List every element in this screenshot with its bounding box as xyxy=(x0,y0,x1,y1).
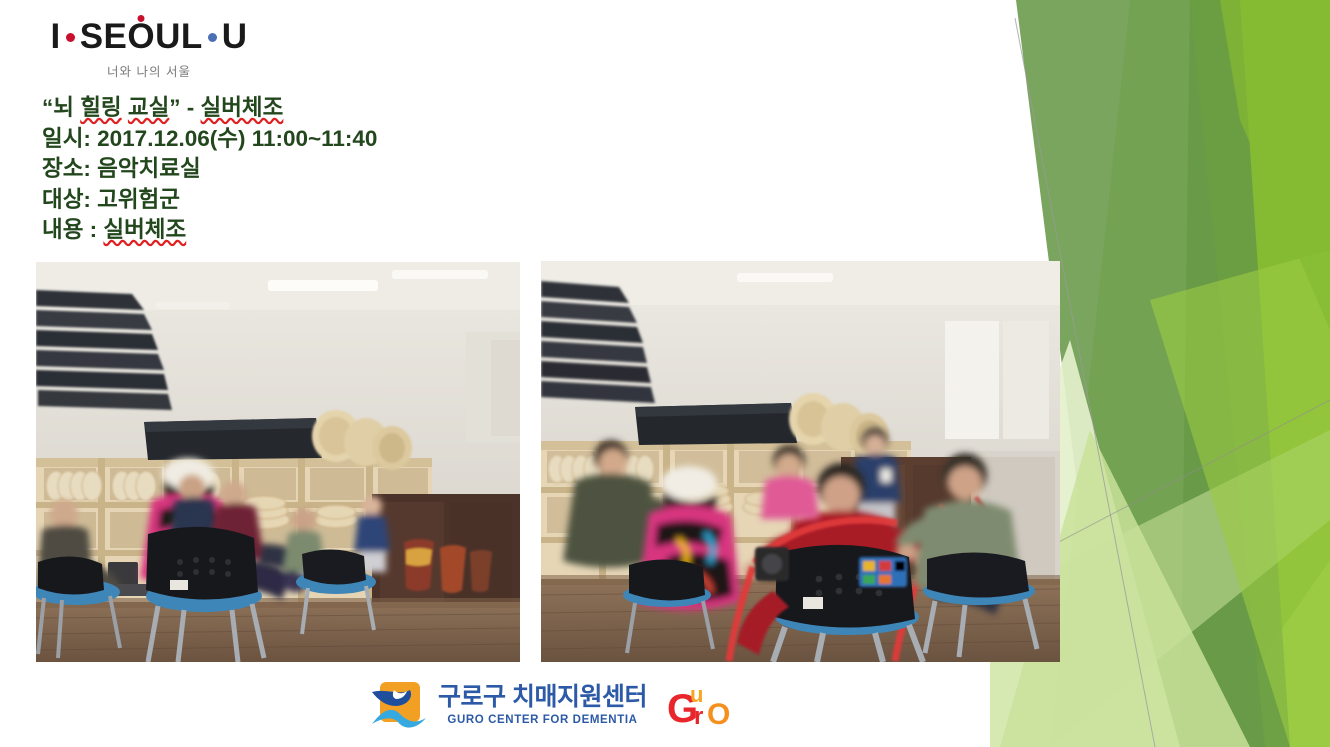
program-prefix: 내용 : xyxy=(42,217,103,242)
blue-dot-icon xyxy=(208,33,217,42)
target-line: 대상: 고위험군 xyxy=(42,185,662,216)
presentation-slide: I SEOUL U 너와 나의 서울 “뇌 힐링 교실” - 실버체조 일시: … xyxy=(0,0,1330,747)
seoul-letter-u: U xyxy=(222,19,248,54)
activity-photo-left xyxy=(36,262,520,662)
datetime-line: 일시: 2017.12.06(수) 11:00~11:40 xyxy=(42,124,662,155)
guro-center-text: 구로구 치매지원센터 GURO CENTER FOR DEMENTIA xyxy=(438,685,647,726)
slide-title-line: “뇌 힐링 교실” - 실버체조 xyxy=(42,93,662,124)
red-dot-icon xyxy=(66,33,75,42)
title-marked-silver-exercise: 실버체조 xyxy=(201,95,284,120)
place-line: 장소: 음악치료실 xyxy=(42,154,662,185)
title-marked-class: 교실 xyxy=(128,95,169,120)
red-dot-over-o-icon xyxy=(138,15,145,22)
guro-center-english-name: GURO CENTER FOR DEMENTIA xyxy=(438,714,647,726)
guro-center-korean-name: 구로구 치매지원센터 xyxy=(438,685,647,710)
guro-wordmark-logo: G u r O xyxy=(667,680,739,730)
program-marked-silver-exercise: 실버체조 xyxy=(103,217,186,242)
title-marked-healing: 힐링 xyxy=(80,95,121,120)
footer-logos: 구로구 치매지원센터 GURO CENTER FOR DEMENTIA G u … xyxy=(370,676,739,734)
program-line: 내용 : 실버체조 xyxy=(42,215,662,246)
activity-photo-right xyxy=(541,261,1060,662)
seoul-word-text: SEOUL xyxy=(80,17,203,56)
title-suffix: ” - xyxy=(169,95,200,120)
seoul-letter-i: I xyxy=(50,19,60,54)
svg-text:r: r xyxy=(694,703,703,730)
seoul-wordmark: I SEOUL U xyxy=(24,16,274,56)
slide-text-block: “뇌 힐링 교실” - 실버체조 일시: 2017.12.06(수) 11:00… xyxy=(42,93,662,246)
title-prefix: “뇌 xyxy=(42,95,80,120)
guro-center-for-dementia-logo: 구로구 치매지원센터 GURO CENTER FOR DEMENTIA xyxy=(370,680,647,730)
seoul-word: SEOUL xyxy=(80,19,203,54)
i-seoul-u-logo: I SEOUL U 너와 나의 서울 xyxy=(24,16,274,78)
svg-text:O: O xyxy=(707,698,730,730)
guro-center-mark-icon xyxy=(370,680,428,730)
seoul-tagline: 너와 나의 서울 xyxy=(24,61,274,80)
